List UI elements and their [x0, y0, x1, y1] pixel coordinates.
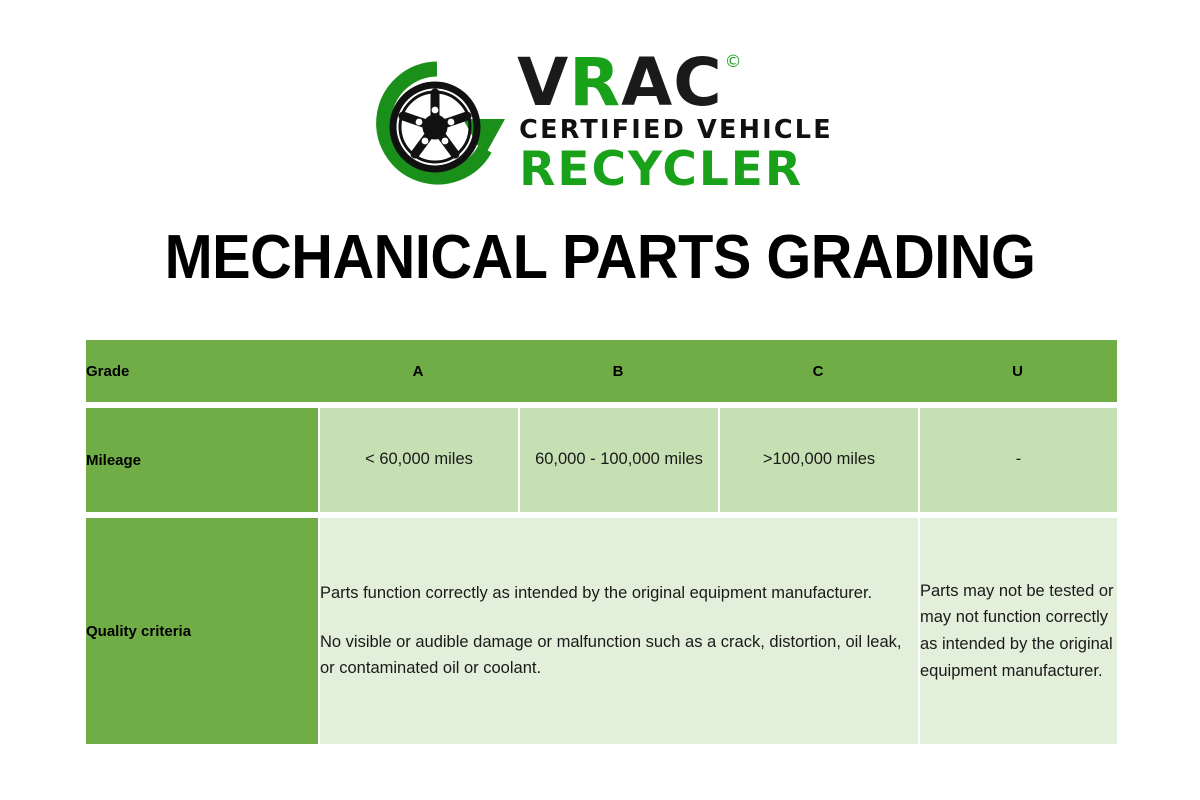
table-header-row: Grade A B C U	[86, 340, 1117, 402]
header-grade-b: B	[518, 340, 718, 402]
row-label-quality-criteria: Quality criteria	[86, 518, 318, 744]
cell-mileage-c: >100,000 miles	[718, 408, 918, 512]
cell-mileage-b: 60,000 - 100,000 miles	[518, 408, 718, 512]
row-label-mileage: Mileage	[86, 408, 318, 512]
brand-letter-c: C	[673, 53, 722, 114]
quality-paragraph-2: No visible or audible damage or malfunct…	[320, 629, 918, 682]
brand-letter-v: V	[517, 53, 569, 114]
quality-paragraph-1: Parts function correctly as intended by …	[320, 580, 918, 607]
brand-name: V R A C ©	[517, 53, 742, 114]
cell-quality-u: Parts may not be tested or may not funct…	[918, 518, 1117, 744]
header-grade-c: C	[718, 340, 918, 402]
brand-tagline: CERTIFIED VEHICLE	[519, 118, 833, 144]
cell-mileage-a: < 60,000 miles	[318, 408, 518, 512]
header-grade-a: A	[318, 340, 518, 402]
table-row-quality-criteria: Quality criteria Parts function correctl…	[86, 518, 1117, 744]
cell-quality-abc: Parts function correctly as intended by …	[318, 518, 918, 744]
cell-mileage-u: -	[918, 408, 1117, 512]
recycling-wheel-icon	[367, 53, 507, 193]
brand-letter-a: A	[621, 53, 673, 114]
brand-recycler: RECYCLER	[519, 146, 803, 193]
brand-logo: V R A C © CERTIFIED VEHICLE RECYCLER	[0, 48, 1200, 198]
logo-wordmark: V R A C © CERTIFIED VEHICLE RECYCLER	[517, 53, 833, 193]
logo-inner: V R A C © CERTIFIED VEHICLE RECYCLER	[367, 53, 833, 193]
mechanical-parts-grading-table: Grade A B C U Mileage < 60,000 miles 60,…	[86, 340, 1117, 744]
brand-letter-r: R	[569, 53, 621, 114]
page-title: MECHANICAL PARTS GRADING	[42, 222, 1158, 293]
header-grade: Grade	[86, 340, 318, 402]
copyright-icon: ©	[725, 55, 743, 71]
table-row-mileage: Mileage < 60,000 miles 60,000 - 100,000 …	[86, 408, 1117, 512]
header-grade-u: U	[918, 340, 1117, 402]
